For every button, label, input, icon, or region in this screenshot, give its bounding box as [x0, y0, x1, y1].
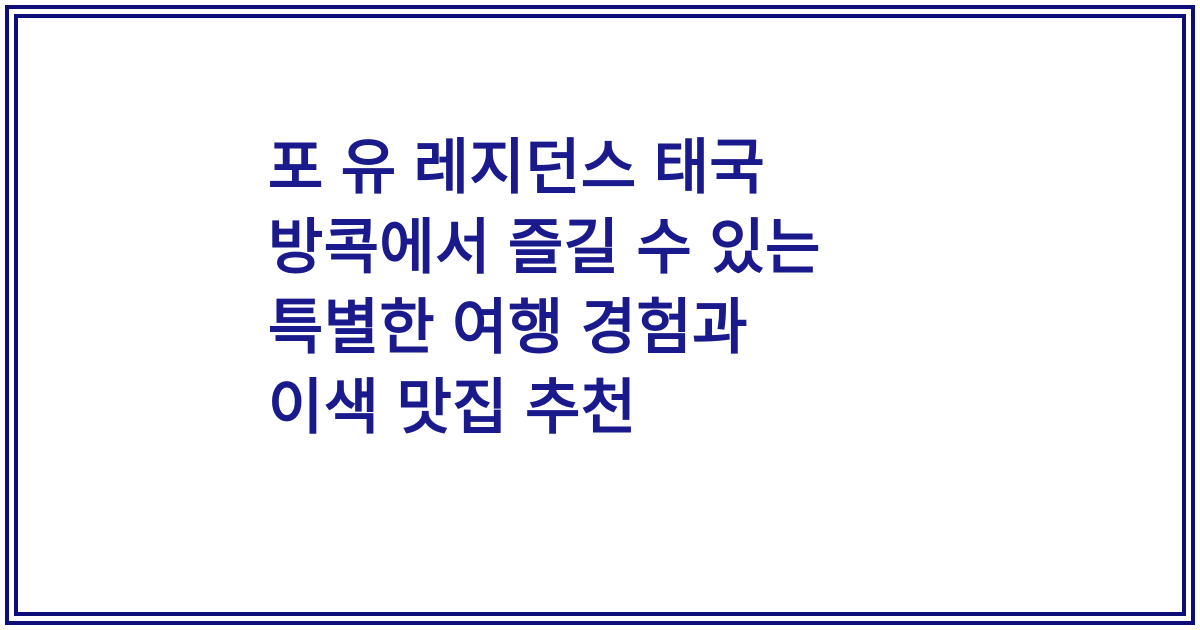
headline-line-1: 포 유 레지던스 태국: [268, 128, 821, 208]
headline-line-4: 이색 맛집 추천: [268, 368, 821, 448]
headline-line-2: 방콕에서 즐길 수 있는: [268, 208, 821, 288]
headline-line-3: 특별한 여행 경험과: [268, 288, 821, 368]
page-title: 포 유 레지던스 태국 방콕에서 즐길 수 있는 특별한 여행 경험과 이색 맛…: [268, 128, 821, 448]
thumbnail-card: 포 유 레지던스 태국 방콕에서 즐길 수 있는 특별한 여행 경험과 이색 맛…: [0, 0, 1200, 630]
headline-container: 포 유 레지던스 태국 방콕에서 즐길 수 있는 특별한 여행 경험과 이색 맛…: [0, 0, 1200, 630]
